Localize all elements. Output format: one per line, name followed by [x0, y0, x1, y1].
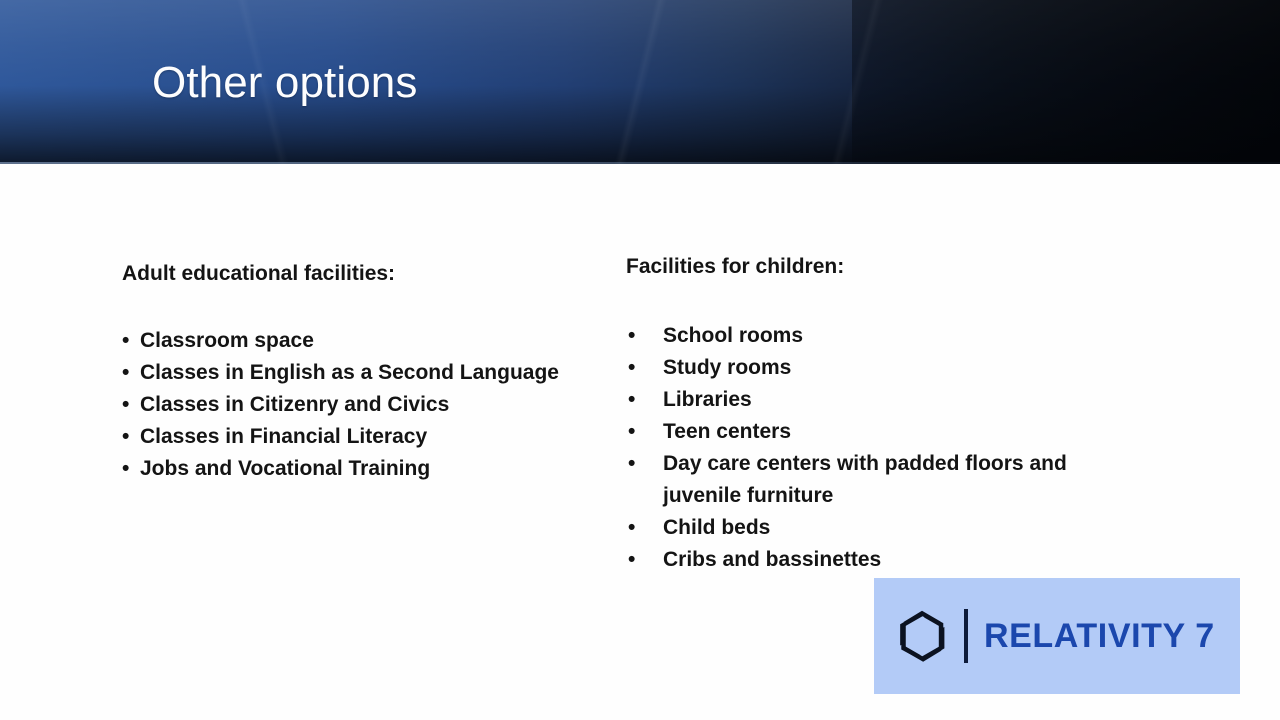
logo-wordmark: RELATIVITY 7 — [984, 618, 1215, 654]
bullet-icon: • — [628, 544, 635, 576]
list-item-label: Classes in Financial Literacy — [140, 425, 427, 448]
list-item: • Day care centers with padded floors an… — [626, 448, 1146, 512]
bullet-icon: • — [122, 357, 129, 389]
left-column-heading: Adult educational facilities: — [122, 261, 602, 287]
list-item-label: Day care centers with padded floors and … — [663, 452, 1067, 507]
list-item: • Jobs and Vocational Training — [122, 453, 602, 485]
list-item: • Study rooms — [626, 352, 1146, 384]
page-title: Other options — [152, 57, 417, 109]
bullet-icon: • — [122, 421, 129, 453]
list-item: • Child beds — [626, 512, 1146, 544]
list-item-label: Classes in English as a Second Language — [140, 361, 559, 384]
bullet-icon: • — [122, 389, 129, 421]
relativity-hexagon-icon — [894, 608, 950, 664]
list-item: • Classroom space — [122, 325, 602, 357]
list-item-label: Child beds — [663, 516, 770, 539]
bullet-icon: • — [628, 384, 635, 416]
logo-divider — [964, 609, 968, 663]
list-item-label: Libraries — [663, 388, 752, 411]
bullet-icon: • — [628, 512, 635, 544]
list-item: • Classes in Citizenry and Civics — [122, 389, 602, 421]
list-item-label: Cribs and bassinettes — [663, 548, 881, 571]
header-bottom-divider — [0, 162, 1280, 164]
left-bullet-list: • Classroom space • Classes in English a… — [122, 325, 602, 485]
bullet-icon: • — [628, 352, 635, 384]
relativity-logo-block: RELATIVITY 7 — [874, 578, 1240, 694]
slide-canvas: Other options Adult educational faciliti… — [0, 0, 1280, 720]
right-bullet-list: • School rooms • Study rooms • Libraries… — [626, 320, 1146, 576]
list-item-label: Teen centers — [663, 420, 791, 443]
list-item: • Classes in English as a Second Languag… — [122, 357, 602, 389]
right-column-heading: Facilities for children: — [626, 254, 1146, 280]
right-content-column: Facilities for children: • School rooms … — [626, 254, 1146, 576]
list-item: • Classes in Financial Literacy — [122, 421, 602, 453]
header-dark-wedge — [852, 0, 1280, 164]
left-content-column: Adult educational facilities: • Classroo… — [122, 261, 602, 485]
list-item-label: Classes in Citizenry and Civics — [140, 393, 449, 416]
list-item: • Libraries — [626, 384, 1146, 416]
bullet-icon: • — [628, 448, 635, 480]
list-item: • School rooms — [626, 320, 1146, 352]
list-item: • Cribs and bassinettes — [626, 544, 1146, 576]
bullet-icon: • — [122, 453, 129, 485]
list-item-label: Jobs and Vocational Training — [140, 457, 430, 480]
bullet-icon: • — [628, 320, 635, 352]
list-item-label: School rooms — [663, 324, 803, 347]
bullet-icon: • — [122, 325, 129, 357]
list-item-label: Classroom space — [140, 329, 314, 352]
list-item-label: Study rooms — [663, 356, 791, 379]
bullet-icon: • — [628, 416, 635, 448]
list-item: • Teen centers — [626, 416, 1146, 448]
